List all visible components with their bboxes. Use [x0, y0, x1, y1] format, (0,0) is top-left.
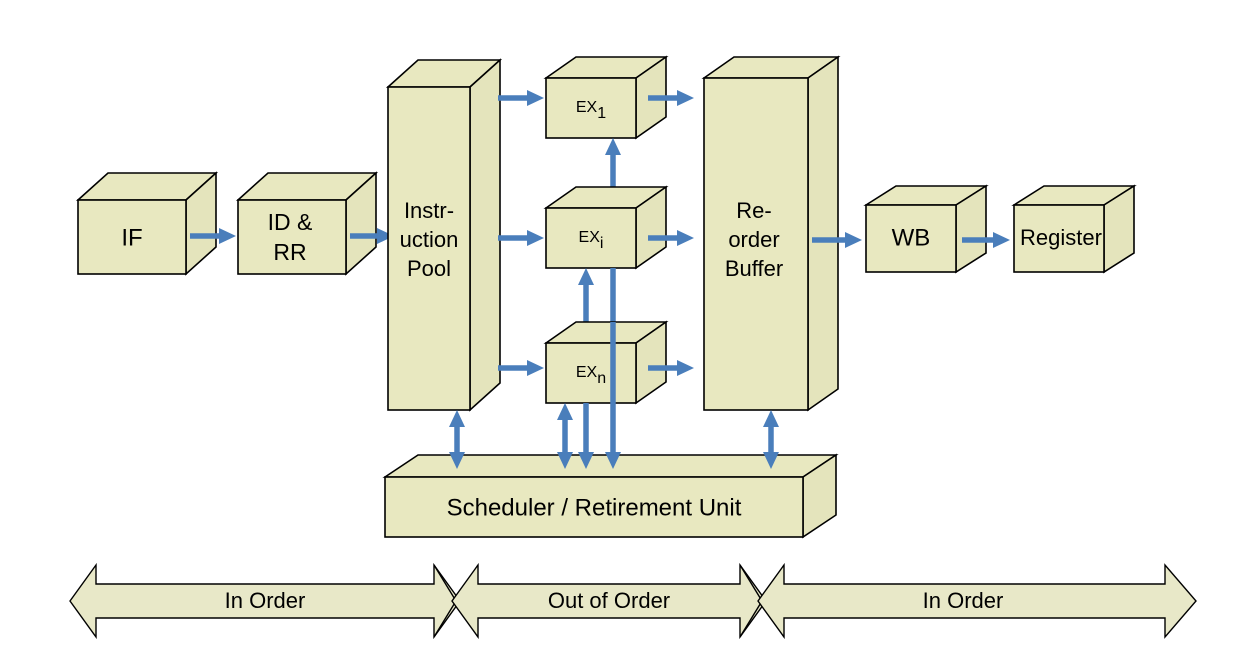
pool-side-face [470, 60, 500, 410]
rob-label-line1: Re- [736, 198, 771, 223]
block-scheduler: Scheduler / Retirement Unit [385, 455, 836, 537]
banner-segment-in-order-2: In Order [758, 565, 1196, 637]
pool-label-line1: Instr- [404, 198, 454, 223]
block-exn: EXn [546, 322, 666, 403]
banner-segment-out-of-order: Out of Order [452, 565, 766, 637]
arrow-exi-to-ex1 [605, 138, 621, 192]
block-exi: EXi [546, 187, 666, 268]
register-label: Register [1020, 225, 1102, 250]
rob-label-line3: Buffer [725, 256, 783, 281]
banner-seg1-label: In Order [225, 588, 306, 613]
block-register: Register [1014, 186, 1134, 272]
wb-label: WB [892, 224, 931, 251]
banner-seg2-label: Out of Order [548, 588, 670, 613]
arrow-exn-to-exi [578, 268, 594, 322]
banner-segment-in-order-1: In Order [70, 565, 460, 637]
block-id-rr: ID & RR [238, 173, 376, 274]
arrow-pool-to-exi [498, 230, 544, 246]
banner-seg3-label: In Order [923, 588, 1004, 613]
if-label: IF [121, 224, 142, 251]
block-reorder-buffer: Re- order Buffer [704, 57, 838, 410]
arrow-pool-to-ex1 [498, 90, 544, 106]
block-instruction-pool: Instr- uction Pool [388, 60, 500, 410]
rob-label-line2: order [728, 227, 779, 252]
diagram-canvas: IF ID & RR Instr- uction Pool [0, 0, 1249, 661]
pipeline-diagram: IF ID & RR Instr- uction Pool [0, 0, 1249, 661]
pool-label-line2: uction [400, 227, 459, 252]
block-wb: WB [866, 186, 986, 272]
rob-side-face [808, 57, 838, 410]
pool-label-line3: Pool [407, 256, 451, 281]
idrr-label-line1: ID & [268, 209, 313, 235]
idrr-label-line2: RR [273, 239, 306, 265]
scheduler-label: Scheduler / Retirement Unit [447, 494, 742, 521]
arrow-pool-to-exn [498, 360, 544, 376]
block-if: IF [78, 173, 216, 274]
